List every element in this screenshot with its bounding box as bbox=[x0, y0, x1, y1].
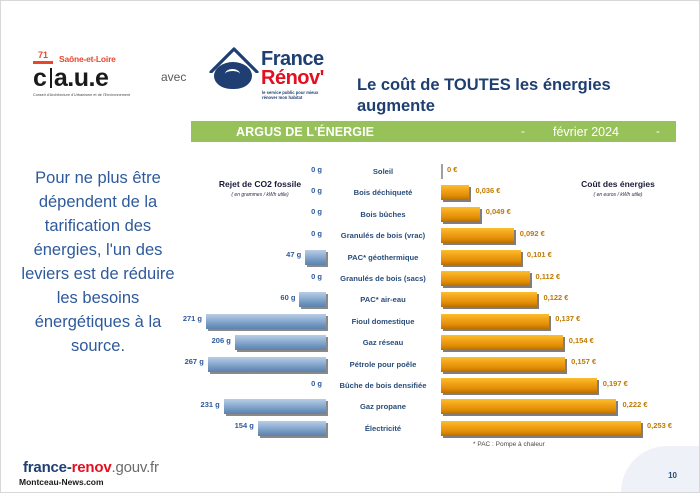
co2-bar bbox=[224, 399, 326, 414]
caue-dept-number: 71 bbox=[33, 51, 53, 60]
cost-bar-zone bbox=[441, 164, 651, 179]
caue-wordmark: c a.u.e bbox=[33, 65, 145, 91]
caue-tagline: Conseil d'Architecture d'Urbanisme et de… bbox=[33, 93, 145, 98]
url-part-renov: renov bbox=[72, 459, 112, 476]
caue-divider bbox=[50, 68, 52, 88]
co2-bar-zone bbox=[191, 250, 326, 265]
cost-value-label: 0,157 € bbox=[571, 357, 596, 366]
cost-bar bbox=[441, 164, 443, 179]
cost-value-label: 0,101 € bbox=[527, 250, 552, 259]
chart-row: 206 gGaz réseau0,154 € bbox=[191, 332, 686, 353]
cost-value-label: 0,253 € bbox=[647, 421, 672, 430]
chart-row-label: Granulés de bois (vrac) bbox=[328, 228, 438, 243]
source-watermark: Montceau-News.com bbox=[19, 477, 104, 487]
cost-value-label: 0,197 € bbox=[603, 379, 628, 388]
intro-paragraph: Pour ne plus être dépendent de la tarifi… bbox=[9, 166, 187, 358]
co2-bar bbox=[258, 421, 326, 436]
chart-row-label: Gaz propane bbox=[328, 399, 438, 414]
cost-bar bbox=[441, 335, 563, 350]
chart-row-label: Fioul domestique bbox=[328, 314, 438, 329]
chart-row-label: Bûche de bois densifiée bbox=[328, 378, 438, 393]
co2-bar bbox=[208, 357, 326, 372]
co2-bar-zone bbox=[191, 314, 326, 329]
chart-row: 154 gÉlectricité0,253 € bbox=[191, 418, 686, 439]
cost-bar-zone bbox=[441, 185, 651, 200]
cost-bar-zone bbox=[441, 228, 651, 243]
chart-row-label: Granulés de bois (sacs) bbox=[328, 271, 438, 286]
cost-bar-zone bbox=[441, 399, 651, 414]
page-corner-shape bbox=[621, 446, 699, 492]
argus-banner-dash-left: - bbox=[521, 126, 525, 138]
cost-value-label: 0,154 € bbox=[569, 336, 594, 345]
co2-value-label: 271 g bbox=[162, 314, 202, 323]
cost-bar-zone bbox=[441, 421, 651, 436]
cost-value-label: 0 € bbox=[447, 165, 457, 174]
cost-bar bbox=[441, 357, 565, 372]
chart-row: 0 gGranulés de bois (sacs)0,112 € bbox=[191, 268, 686, 289]
chart-row-label: Soleil bbox=[328, 164, 438, 179]
chart-row: 0 gBois déchiqueté0,036 € bbox=[191, 182, 686, 203]
chart-row: 0 gSoleil0 € bbox=[191, 161, 686, 182]
caue-dept-number-block: 71 bbox=[33, 51, 53, 64]
co2-bar-zone bbox=[191, 421, 326, 436]
cost-value-label: 0,222 € bbox=[622, 400, 647, 409]
cost-bar-zone bbox=[441, 314, 651, 329]
co2-bar bbox=[235, 335, 326, 350]
caue-logo-top: 71 Saône-et-Loire bbox=[33, 51, 145, 64]
cost-bar-zone bbox=[441, 335, 651, 350]
co2-value-label: 231 g bbox=[180, 400, 220, 409]
co2-value-label: 0 g bbox=[282, 379, 322, 388]
url-part-gouv: .gouv.fr bbox=[111, 459, 158, 476]
caue-dept-name: Saône-et-Loire bbox=[59, 54, 116, 64]
cost-bar bbox=[441, 185, 469, 200]
cost-value-label: 0,036 € bbox=[475, 186, 500, 195]
page-number: 10 bbox=[668, 471, 677, 480]
cost-bar-zone bbox=[441, 357, 651, 372]
co2-value-label: 154 g bbox=[214, 421, 254, 430]
cost-bar bbox=[441, 271, 530, 286]
cost-bar bbox=[441, 207, 480, 222]
france-renov-url: france-renov.gouv.fr bbox=[23, 459, 159, 476]
slide: 71 Saône-et-Loire c a.u.e Conseil d'Arch… bbox=[0, 0, 700, 493]
co2-value-label: 47 g bbox=[261, 250, 301, 259]
co2-bar bbox=[206, 314, 326, 329]
chart-row: 231 gGaz propane0,222 € bbox=[191, 396, 686, 417]
chart-row-label: Bois déchiqueté bbox=[328, 185, 438, 200]
cost-value-label: 0,122 € bbox=[543, 293, 568, 302]
caue-logo: 71 Saône-et-Loire c a.u.e Conseil d'Arch… bbox=[33, 51, 145, 98]
argus-banner-dash-right: - bbox=[656, 126, 660, 138]
co2-value-label: 0 g bbox=[282, 186, 322, 195]
france-renov-logo: France Rénov' le service public pour mie… bbox=[206, 47, 331, 103]
co2-value-label: 0 g bbox=[282, 272, 322, 281]
page-title: Le coût de TOUTES les énergies augmente bbox=[357, 75, 657, 117]
chart-row: 47 gPAC* géothermique0,101 € bbox=[191, 247, 686, 268]
cost-bar bbox=[441, 399, 616, 414]
chart-row: 0 gGranulés de bois (vrac)0,092 € bbox=[191, 225, 686, 246]
energy-cost-chart: Rejet de CO2 fossile ( en grammes / kWh … bbox=[191, 151, 686, 441]
argus-banner: ARGUS DE L'ÉNERGIE - février 2024 - bbox=[191, 121, 676, 142]
france-renov-tagline: le service public pour mieux rénover mon… bbox=[262, 90, 332, 100]
cost-bar bbox=[441, 314, 549, 329]
france-renov-smile-icon bbox=[225, 69, 240, 79]
url-part-france: france- bbox=[23, 459, 72, 476]
caue-letters-aue: a.u.e bbox=[54, 65, 108, 91]
cost-bar bbox=[441, 228, 514, 243]
chart-row: 0 gBois bûches0,049 € bbox=[191, 204, 686, 225]
chart-row-label: PAC* air-eau bbox=[328, 292, 438, 307]
cost-bar bbox=[441, 292, 537, 307]
france-renov-line2: Rénov' bbox=[261, 68, 324, 89]
co2-value-label: 60 g bbox=[255, 293, 295, 302]
chart-row: 267 gPétrole pour poêle0,157 € bbox=[191, 354, 686, 375]
cost-value-label: 0,137 € bbox=[555, 314, 580, 323]
cost-bar bbox=[441, 378, 597, 393]
co2-value-label: 0 g bbox=[282, 207, 322, 216]
argus-banner-label: ARGUS DE L'ÉNERGIE bbox=[236, 125, 374, 139]
co2-bar bbox=[305, 250, 326, 265]
co2-value-label: 0 g bbox=[282, 165, 322, 174]
co2-value-label: 206 g bbox=[191, 336, 231, 345]
chart-row-label: Bois bûches bbox=[328, 207, 438, 222]
chart-row: 271 gFioul domestique0,137 € bbox=[191, 311, 686, 332]
avec-label: avec bbox=[161, 70, 186, 84]
chart-row-label: Électricité bbox=[328, 421, 438, 436]
caue-letter-c: c bbox=[33, 65, 48, 91]
co2-bar bbox=[299, 292, 326, 307]
cost-bar bbox=[441, 250, 521, 265]
cost-bar bbox=[441, 421, 641, 436]
argus-banner-date: février 2024 bbox=[553, 125, 619, 139]
chart-row: 60 gPAC* air-eau0,122 € bbox=[191, 289, 686, 310]
co2-bar-zone bbox=[191, 357, 326, 372]
chart-row-label: PAC* géothermique bbox=[328, 250, 438, 265]
cost-value-label: 0,112 € bbox=[536, 272, 561, 281]
cost-value-label: 0,092 € bbox=[520, 229, 545, 238]
cost-value-label: 0,049 € bbox=[486, 207, 511, 216]
chart-row-label: Gaz réseau bbox=[328, 335, 438, 350]
pac-footnote: * PAC : Pompe à chaleur bbox=[473, 441, 545, 448]
chart-row: 0 gBûche de bois densifiée0,197 € bbox=[191, 375, 686, 396]
co2-value-label: 0 g bbox=[282, 229, 322, 238]
cost-bar-zone bbox=[441, 207, 651, 222]
co2-value-label: 267 g bbox=[164, 357, 204, 366]
chart-row-label: Pétrole pour poêle bbox=[328, 357, 438, 372]
